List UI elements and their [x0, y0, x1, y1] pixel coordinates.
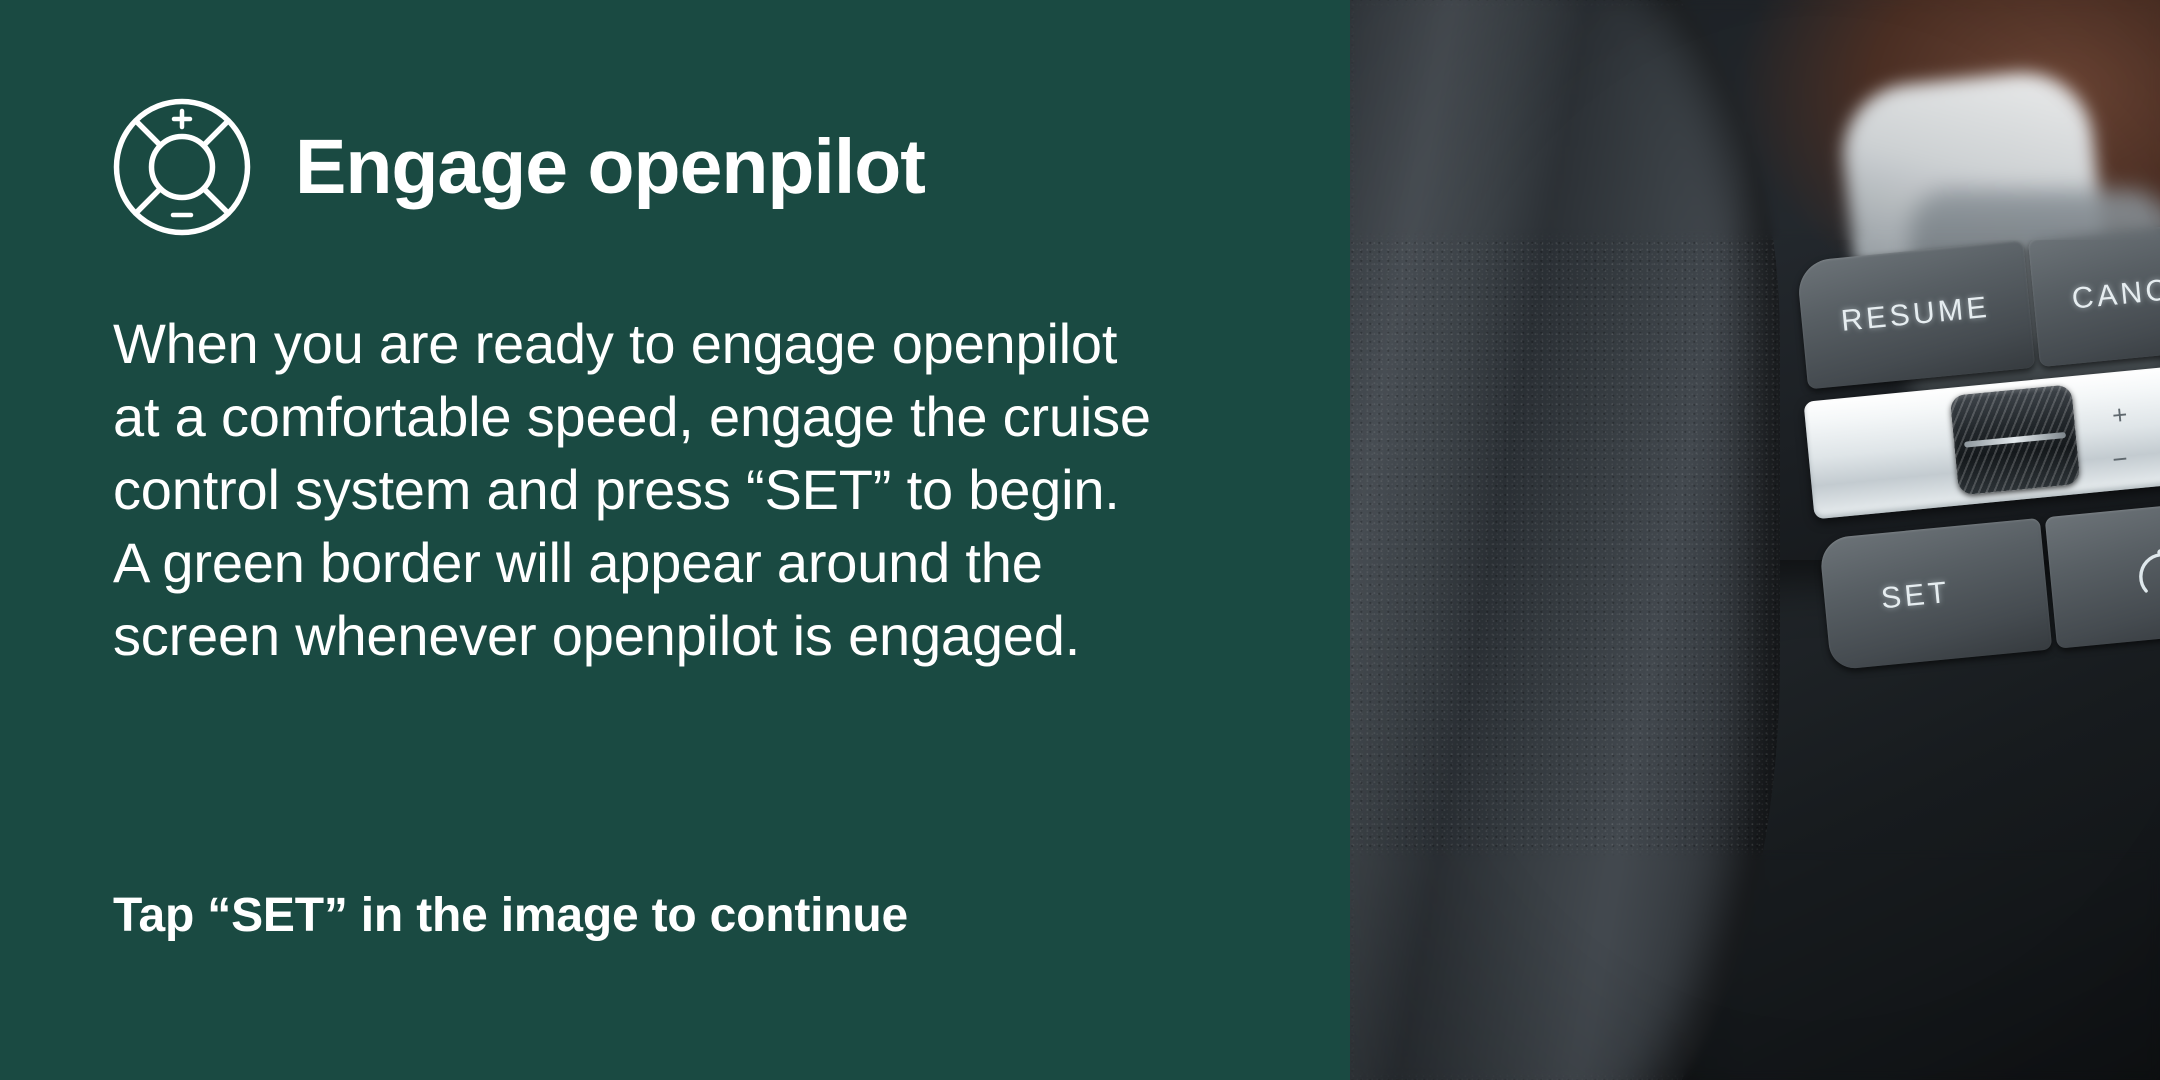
body-line: at a comfortable speed, engage the cruis… [113, 380, 1293, 453]
resume-button[interactable]: RESUME [1796, 240, 2035, 389]
body-line: A green border will appear around the [113, 526, 1293, 599]
cancel-button[interactable]: CANCEL [2028, 220, 2160, 367]
cruise-control-cluster: RESUME CANCEL + − SET [1796, 221, 2160, 820]
speed-adjust-rocker[interactable] [1950, 384, 2081, 495]
cancel-button-label: CANCEL [2070, 269, 2160, 317]
call-to-action-text: Tap “SET” in the image to continue [113, 888, 908, 943]
instruction-panel: Engage openpilot When you are ready to e… [0, 0, 1350, 1080]
body-line: When you are ready to engage openpilot [113, 307, 1293, 380]
set-button-label: SET [1880, 576, 1952, 616]
body-line: screen whenever openpilot is engaged. [113, 599, 1293, 672]
plus-icon: + [2111, 401, 2129, 428]
gap-distance-icon [2100, 536, 2160, 611]
body-line: control system and press “SET” to begin. [113, 453, 1293, 526]
resume-button-label: RESUME [1840, 291, 1992, 339]
steering-wheel-photo[interactable]: RESUME CANCEL + − SET [1350, 0, 2160, 1080]
set-button[interactable]: SET [1819, 518, 2053, 671]
steering-wheel-rim [1350, 0, 1780, 1080]
rim-leather-texture [1350, 0, 1780, 1080]
cruise-control-dial-icon [113, 98, 251, 236]
tutorial-screen: Engage openpilot When you are ready to e… [0, 0, 2160, 1080]
page-title: Engage openpilot [295, 129, 925, 206]
panel-header: Engage openpilot [113, 98, 925, 236]
instruction-body: When you are ready to engage openpilot a… [113, 307, 1293, 672]
cluster-bottom-row: SET [1819, 499, 2160, 671]
minus-icon: − [2111, 445, 2129, 472]
gap-distance-button[interactable] [2045, 499, 2160, 649]
